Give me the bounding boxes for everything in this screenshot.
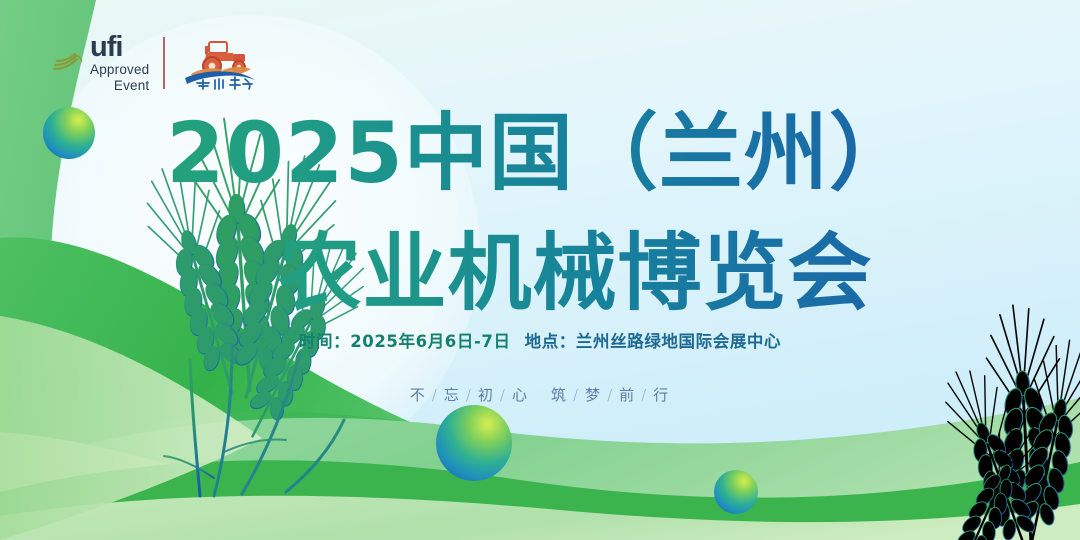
tagline-char-1: 不 [410, 386, 427, 404]
tagline-sep: / [500, 386, 507, 404]
tagline-sep: / [432, 386, 439, 404]
tagline-char-4: 心 [512, 386, 529, 404]
tagline-char-6: 梦 [585, 386, 602, 404]
tagline-sep: / [466, 386, 473, 404]
time-label: 时间： [299, 332, 350, 351]
tagline-sep: / [641, 386, 648, 404]
tagline-char-3: 初 [478, 386, 495, 404]
tagline-sep: / [573, 386, 580, 404]
location-label: 地点： [525, 332, 576, 351]
sphere-center [436, 405, 512, 481]
ufi-swoosh-icon [52, 52, 86, 74]
headline-line-1: 2025中国（兰州） [0, 86, 1080, 207]
headline-line-2: 农业机械博览会 [70, 206, 1080, 327]
logo-divider [163, 37, 165, 89]
tagline-char-8: 行 [653, 386, 670, 404]
ufi-approved-label: Approved [90, 62, 149, 78]
tagline: 不/忘/初/心筑/梦/前/行 [0, 384, 1080, 405]
poster-canvas: ufi Approved Event [0, 0, 1080, 540]
location-value: 兰州丝路绿地国际会展中心 [576, 332, 781, 351]
sphere-right [714, 470, 758, 514]
tagline-char-5: 筑 [551, 386, 568, 404]
event-meta-line: 时间：2025年6月6日-7日地点：兰州丝路绿地国际会展中心 [0, 328, 1080, 352]
logo-bar: ufi Approved Event [52, 33, 259, 94]
time-value: 2025年6月6日-7日 [350, 332, 510, 351]
tagline-char-2: 忘 [444, 386, 461, 404]
ufi-text-block: ufi Approved Event [90, 33, 149, 94]
ufi-wordmark: ufi [90, 33, 149, 62]
tagline-char-7: 前 [619, 386, 636, 404]
tagline-sep: / [607, 386, 614, 404]
ufi-approved-event-logo: ufi Approved Event [52, 33, 149, 94]
lanzhou-agri-machinery-emblem [179, 34, 259, 92]
